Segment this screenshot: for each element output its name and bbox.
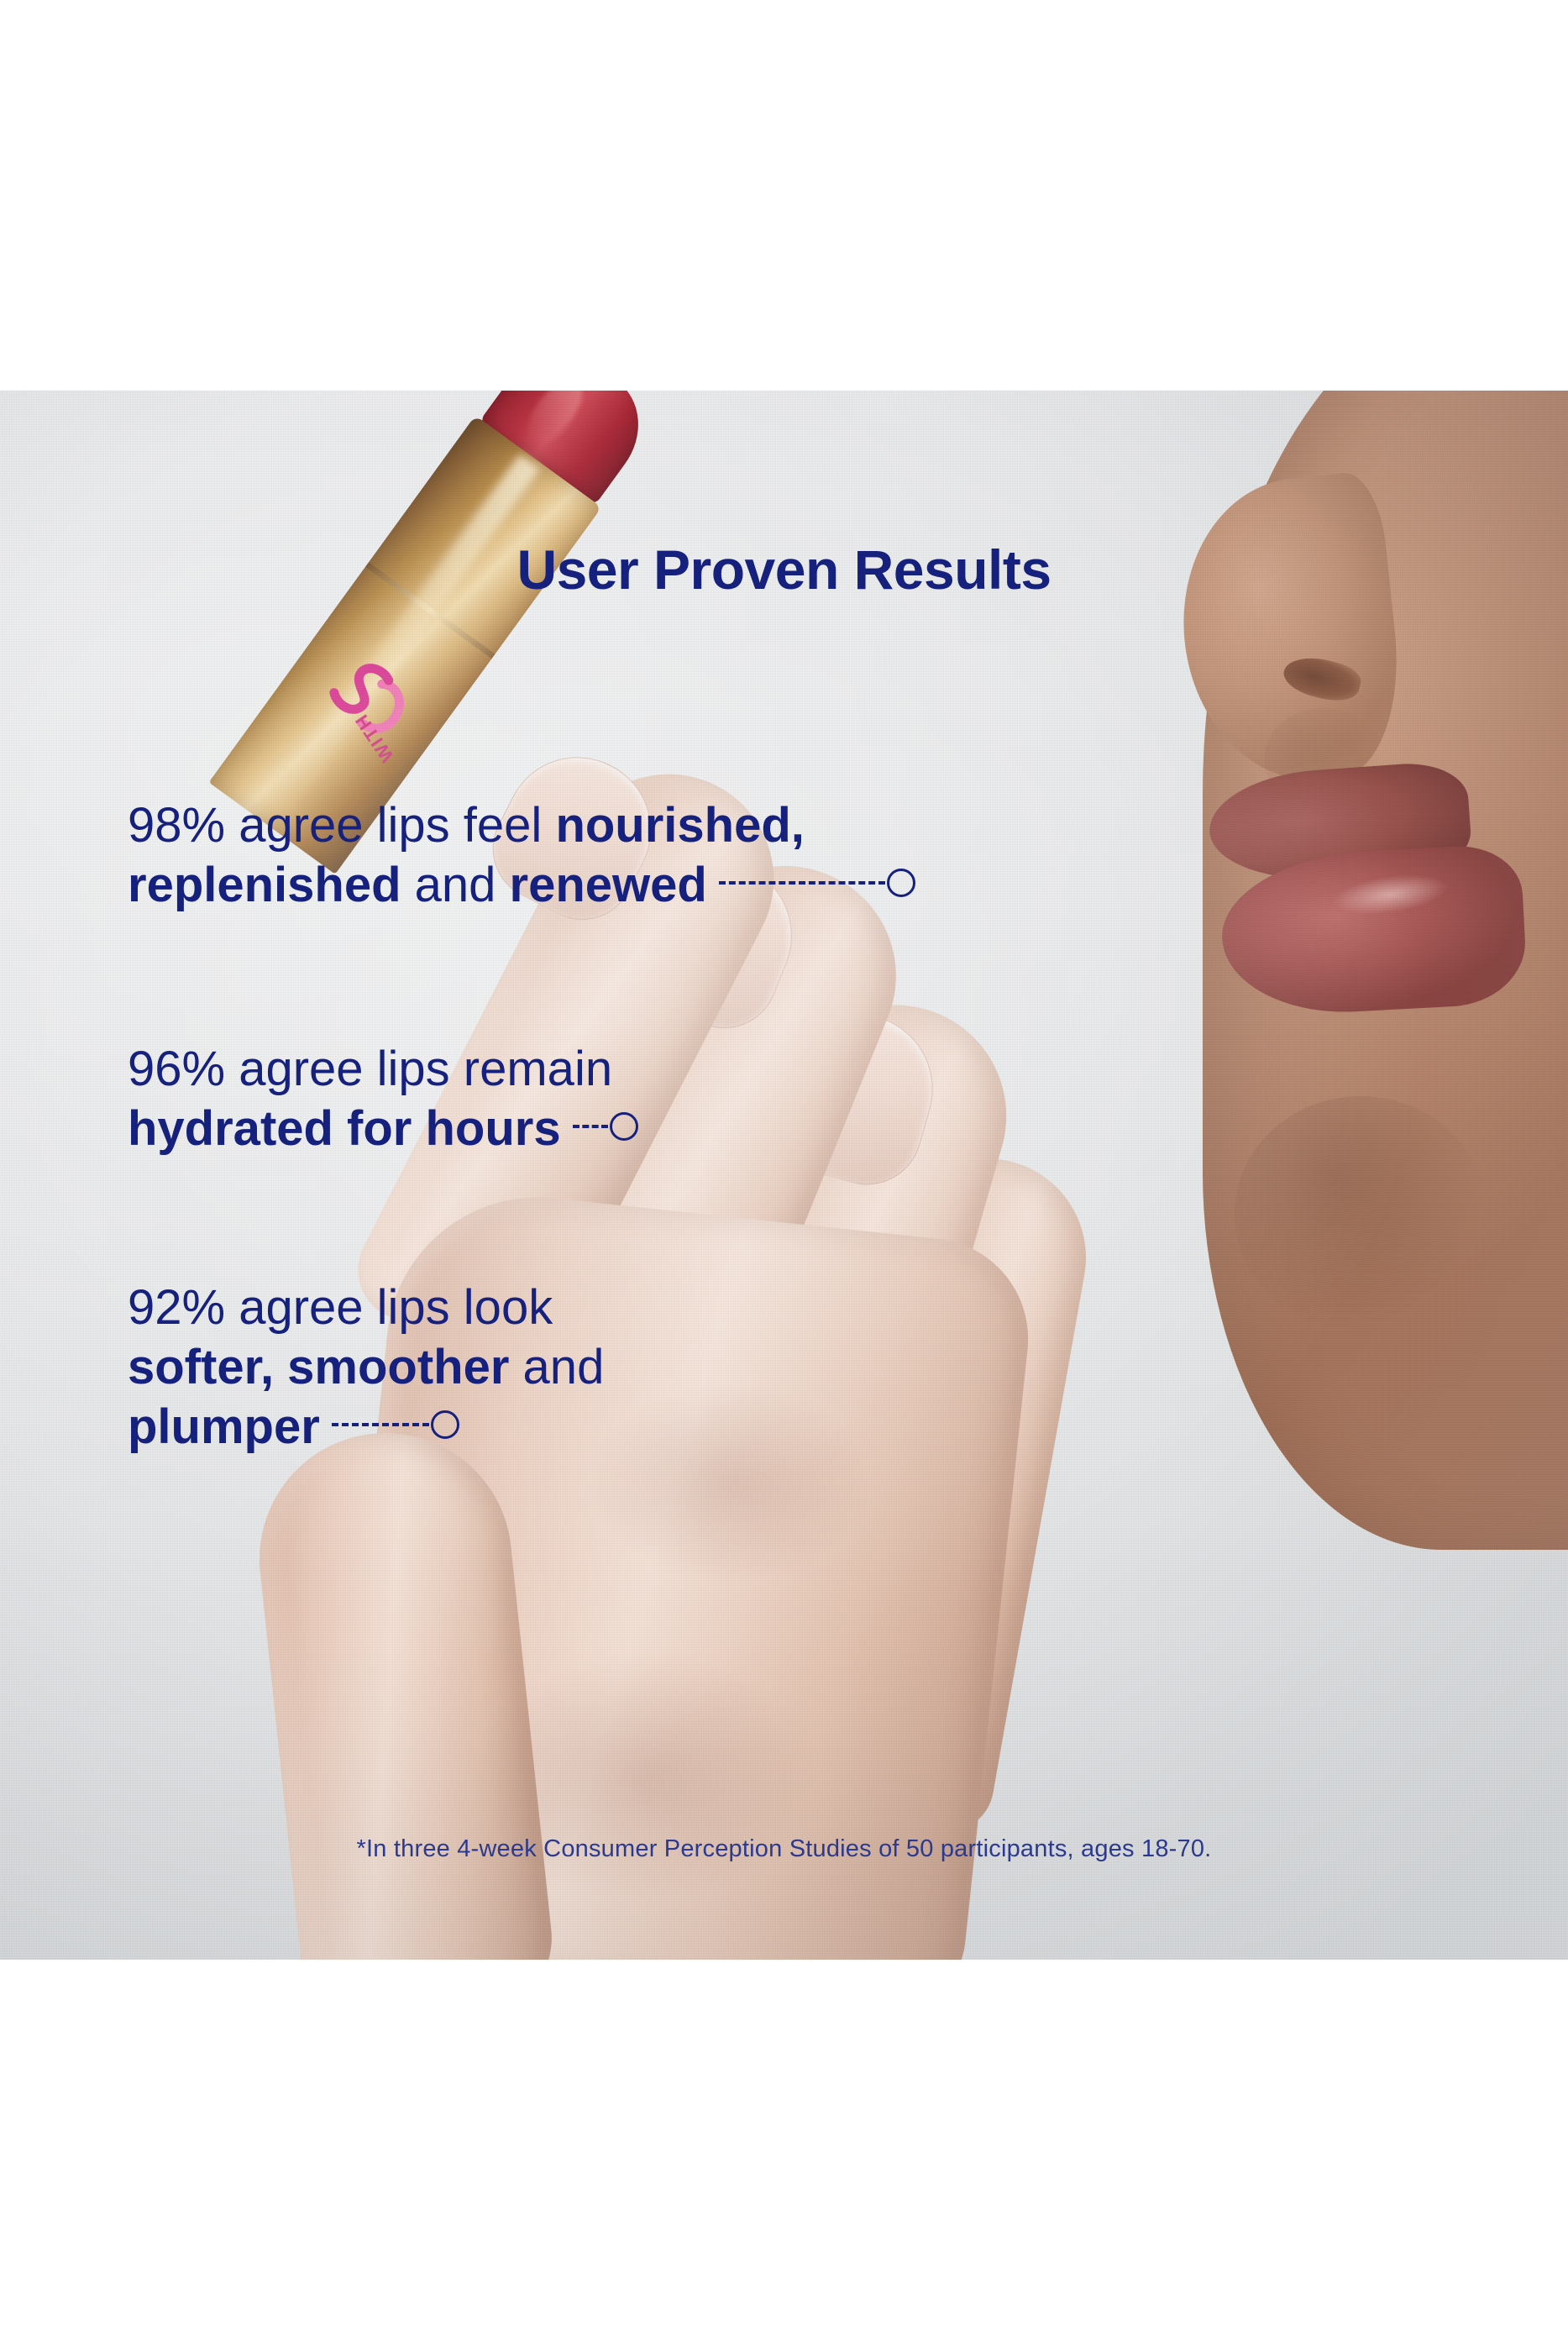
stat-3-lead: 92% agree lips look bbox=[128, 1280, 553, 1335]
stat-line-2: softer, smoother and bbox=[128, 1338, 604, 1398]
stat-2-bold-a: hydrated for hours bbox=[128, 1101, 561, 1156]
stat-1-bold: nourished, bbox=[555, 798, 804, 853]
circle-outline-icon bbox=[887, 869, 915, 897]
model-hand bbox=[0, 391, 1568, 1960]
stat-1-bold-a: replenished bbox=[128, 858, 401, 912]
ad-canvas: WITH User Proven Results 98% agree lips … bbox=[0, 0, 1568, 2352]
leader-line-1 bbox=[719, 869, 915, 897]
hand-shadow bbox=[470, 1651, 823, 1903]
stat-line-1: 98% agree lips feel nourished, bbox=[128, 796, 915, 856]
circle-outline-icon bbox=[610, 1112, 638, 1141]
stat-1-bold-b: renewed bbox=[510, 858, 707, 912]
stat-line-3: plumper bbox=[128, 1398, 604, 1457]
dashed-leader-icon bbox=[573, 1125, 608, 1128]
stat-block-hydrated: 96% agree lips remain hydrated for hours bbox=[128, 1040, 638, 1159]
stat-3-bold-b: plumper bbox=[128, 1399, 320, 1454]
leader-line-2 bbox=[573, 1112, 638, 1141]
stat-1-lead: 98% agree lips feel bbox=[128, 798, 555, 853]
circle-outline-icon bbox=[431, 1410, 459, 1439]
page-title: User Proven Results bbox=[0, 538, 1568, 601]
stat-block-nourished: 98% agree lips feel nourished, replenish… bbox=[128, 796, 915, 916]
dashed-leader-icon bbox=[332, 1423, 429, 1426]
stat-3-bold-a: softer, smoother bbox=[128, 1340, 509, 1394]
leader-line-3 bbox=[332, 1410, 459, 1439]
stat-1-mid: and bbox=[401, 858, 510, 912]
stat-line-1: 92% agree lips look bbox=[128, 1278, 604, 1338]
stat-block-plumper: 92% agree lips look softer, smoother and… bbox=[128, 1278, 604, 1457]
stat-line-1: 96% agree lips remain bbox=[128, 1040, 638, 1100]
stat-line-2: replenished and renewed bbox=[128, 856, 915, 916]
footnote-disclaimer: *In three 4-week Consumer Perception Stu… bbox=[0, 1835, 1568, 1863]
product-photo: WITH bbox=[0, 391, 1568, 1960]
stat-2-lead: 96% agree lips remain bbox=[128, 1042, 612, 1096]
knuckle-shadow bbox=[588, 1382, 873, 1583]
stat-line-2: hydrated for hours bbox=[128, 1100, 638, 1159]
stat-3-mid: and bbox=[509, 1340, 604, 1394]
dashed-leader-icon bbox=[719, 881, 885, 885]
